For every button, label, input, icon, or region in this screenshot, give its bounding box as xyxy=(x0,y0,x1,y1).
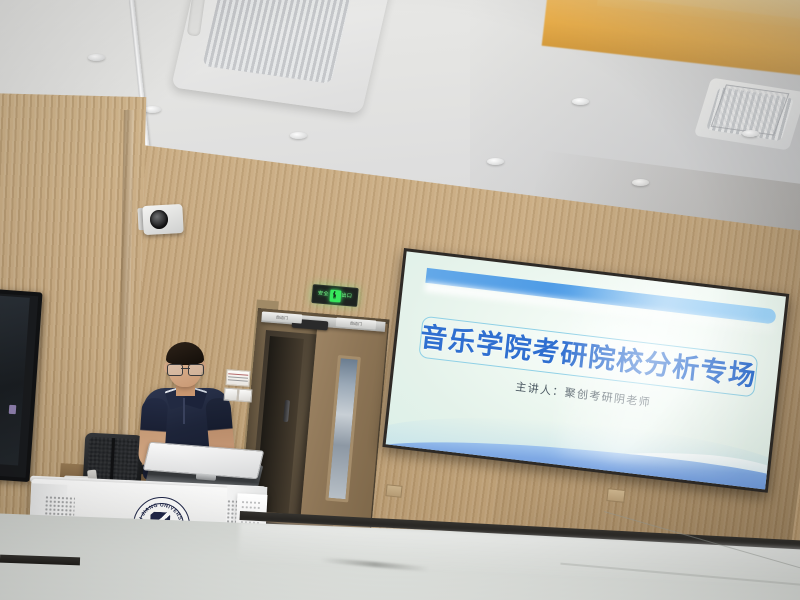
exit-sign-left-label: 安全 xyxy=(318,292,329,298)
presenter-shirt-placket xyxy=(183,398,185,424)
wall-outlet-plate[interactable] xyxy=(385,484,402,498)
light-switch-left[interactable] xyxy=(224,388,239,402)
monitor-screen-artifact xyxy=(9,405,17,414)
smoke-detector-icon xyxy=(572,98,589,105)
wall-outlet-plate-secondary[interactable] xyxy=(606,488,625,503)
wall-notice-sign xyxy=(225,369,250,387)
lecture-hall-photo: 安全 出口 自动门 自动门 音乐学院考研院校分析专场 主讲人：聚创考研阴老师 xyxy=(0,0,800,600)
glasses-bridge xyxy=(181,368,190,369)
smoke-detector-icon xyxy=(742,130,759,137)
smoke-detector-icon xyxy=(487,158,504,165)
exit-sign-right-label: 出口 xyxy=(341,294,352,300)
smoke-detector-icon xyxy=(290,132,307,139)
smoke-detector-icon xyxy=(88,54,105,61)
smoke-detector-icon xyxy=(144,106,161,113)
notice-line xyxy=(228,379,248,382)
emergency-exit-sign: 安全 出口 xyxy=(311,284,358,307)
light-switch-right[interactable] xyxy=(238,389,253,403)
running-man-icon xyxy=(329,289,341,302)
